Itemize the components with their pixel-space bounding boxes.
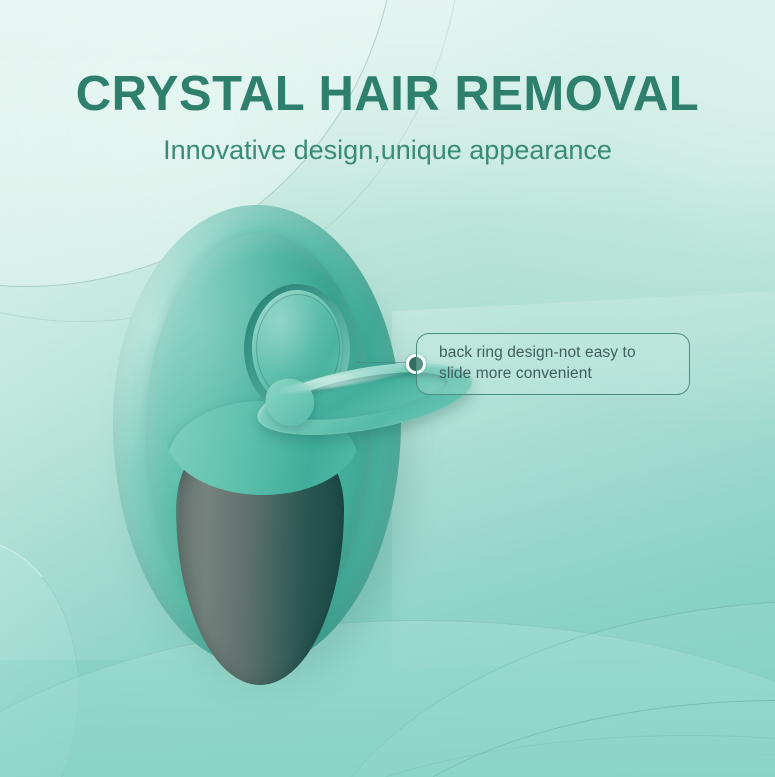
page-title: CRYSTAL HAIR REMOVAL: [0, 66, 775, 122]
product-poster: CRYSTAL HAIR REMOVAL Innovative design,u…: [0, 0, 775, 777]
page-subtitle: Innovative design,unique appearance: [0, 135, 775, 166]
callout-leader-line: [356, 362, 412, 363]
product-image: [113, 205, 413, 685]
callout-text: back ring design-not easy to slide more …: [439, 342, 689, 384]
callout-box: back ring design-not easy to slide more …: [416, 333, 690, 395]
